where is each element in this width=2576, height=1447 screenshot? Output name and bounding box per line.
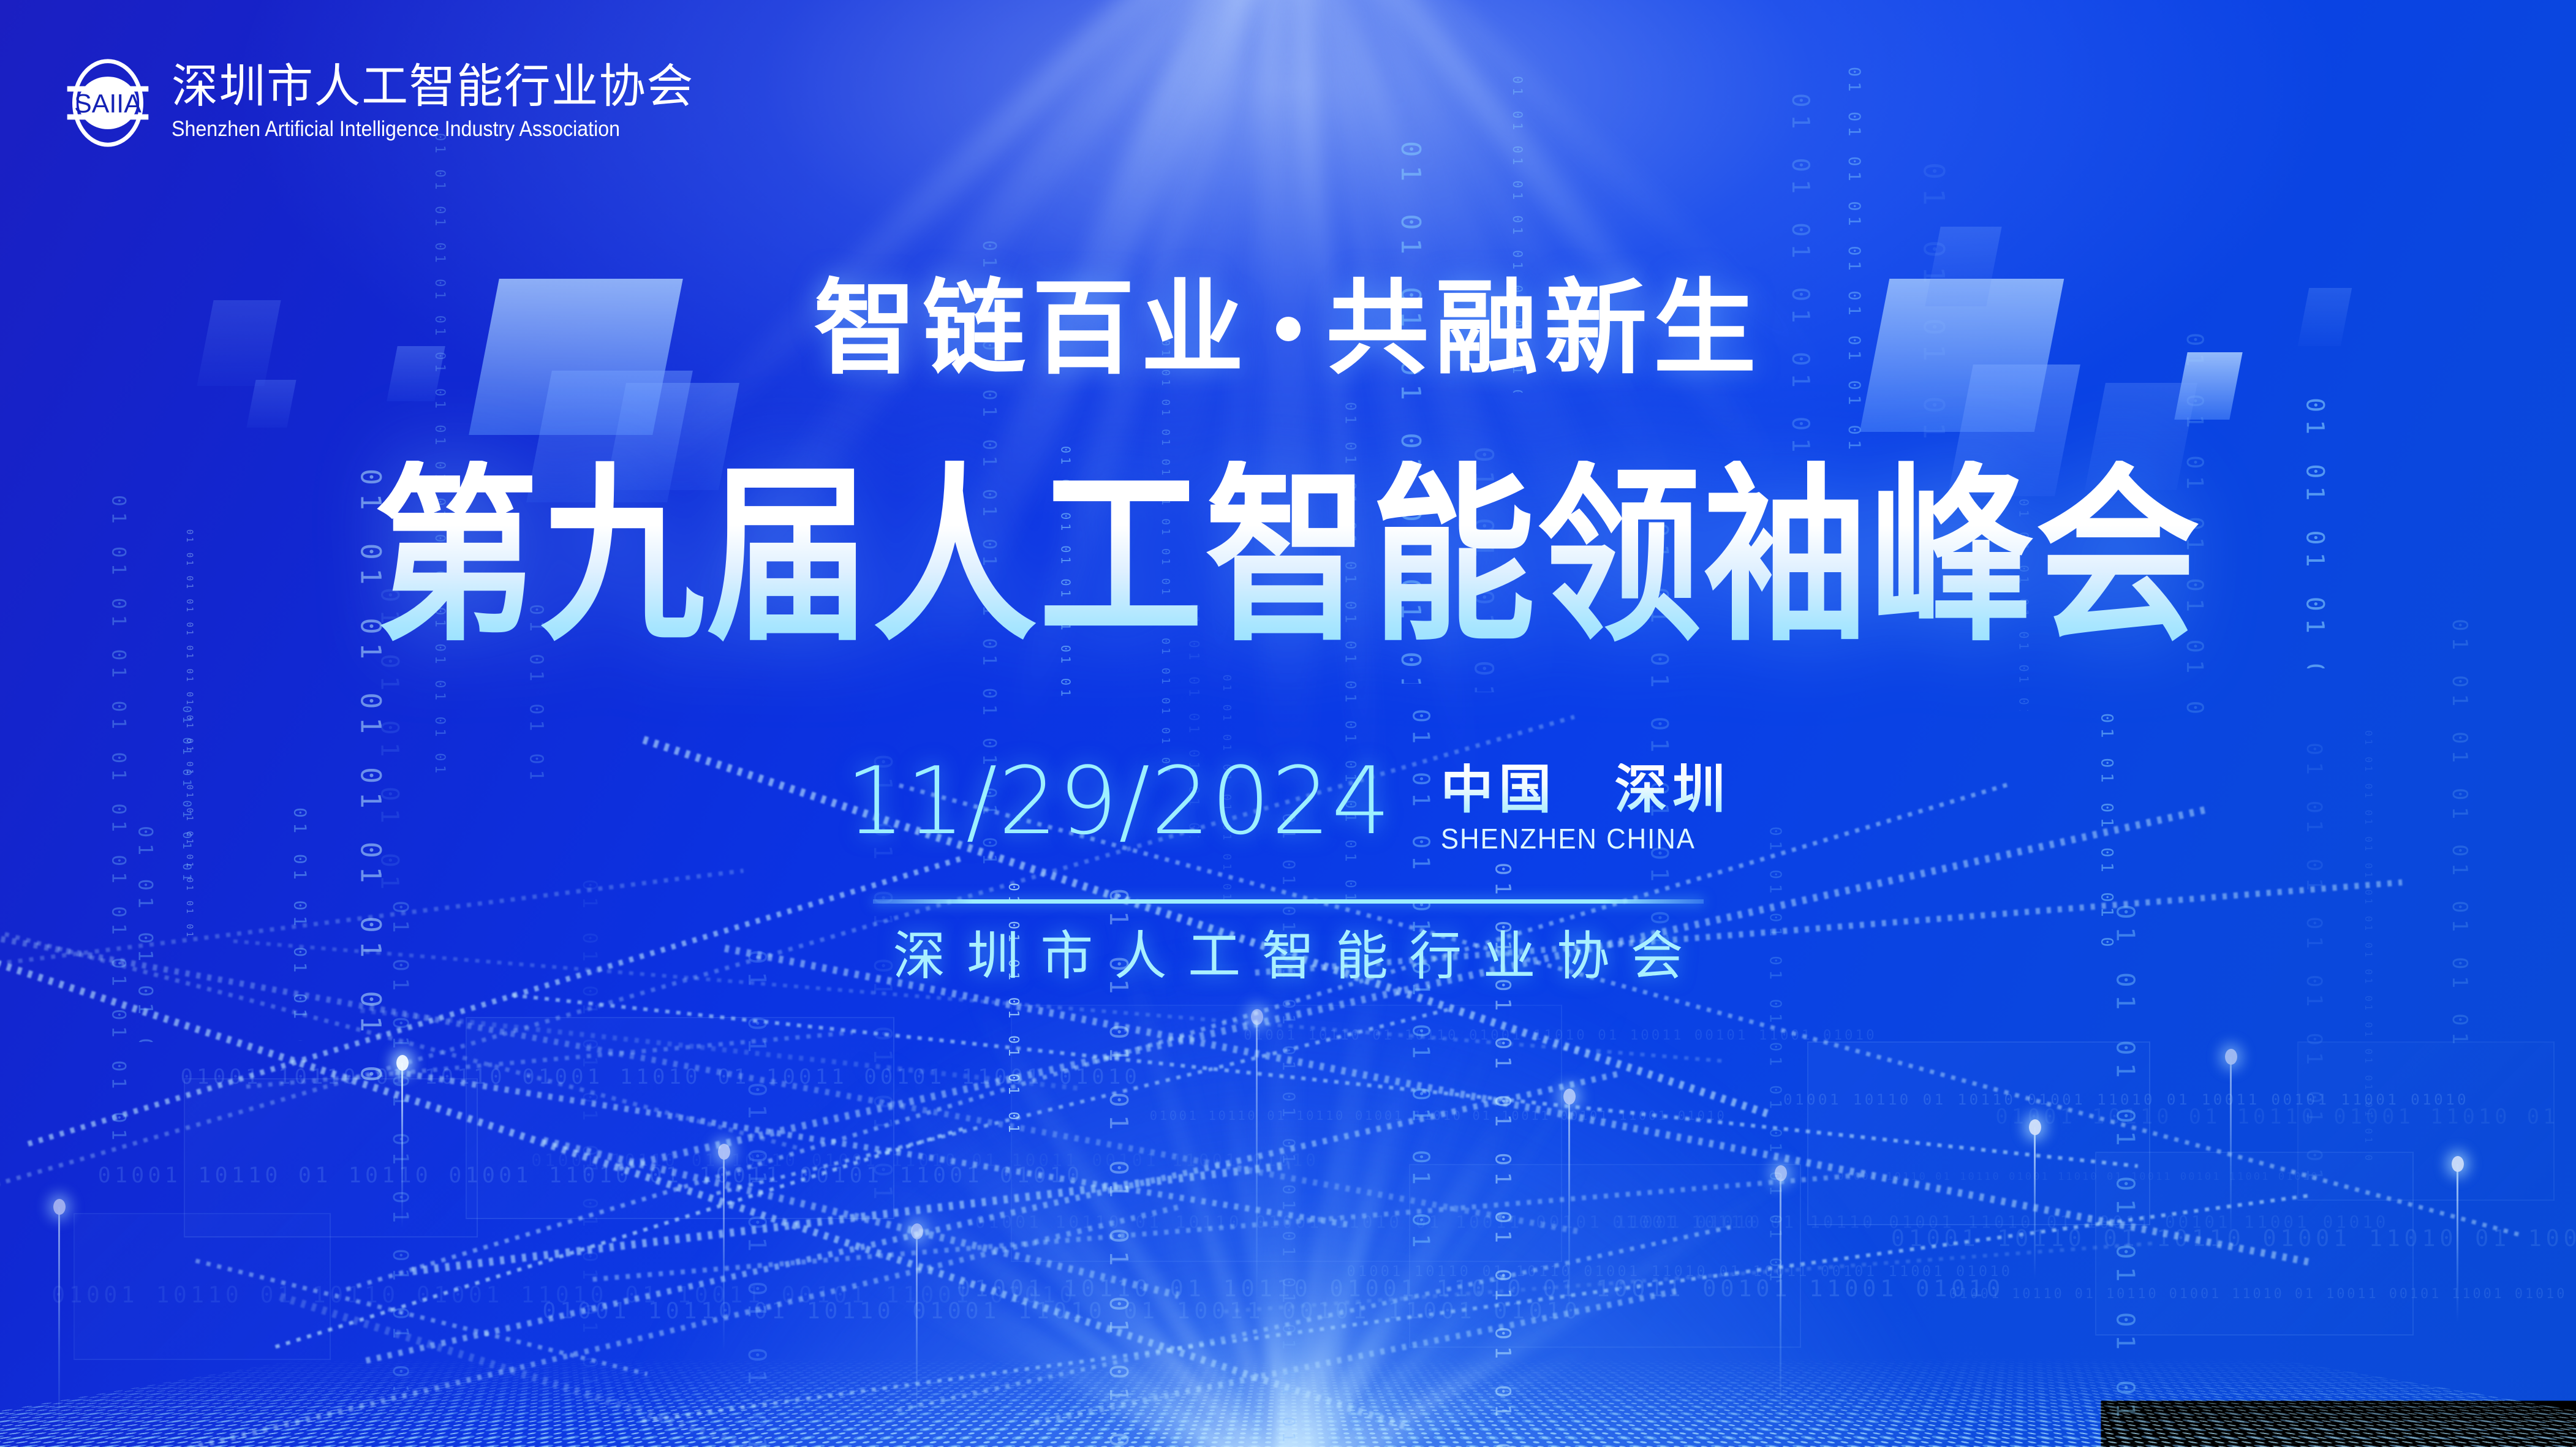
light-ray [1269, 0, 1603, 825]
decorative-block [246, 380, 296, 428]
circuit-panel [184, 1078, 478, 1237]
subtitle-separator-dot [1276, 317, 1301, 341]
emblem-label: SAIIA [74, 89, 142, 119]
hex-data-row: 01001 10110 01 10110 01001 11010 01 1001… [1949, 1286, 2567, 1302]
binary-stream: 01 01 01 01 01 01 01 01 01 01 01 01 01 0… [1845, 67, 1864, 455]
location-en: SHENZHEN CHINA [1441, 825, 1716, 853]
light-ray [1190, 0, 1300, 844]
light-pillar [2457, 1164, 2458, 1323]
saiia-emblem-icon: SAIIA [60, 55, 156, 151]
event-subtitle: 智链百业共融新生 [0, 277, 2576, 380]
circuit-panel [74, 1213, 331, 1360]
logo-name-cn: 深圳市人工智能行业协会 [172, 63, 694, 111]
light-ray [1263, 0, 1724, 790]
binary-stream: 01 01 01 01 01 01 01 01 01 01 01 01 01 0… [290, 807, 311, 1041]
light-ray [855, 0, 1310, 787]
event-organizer: 深圳市人工智能行业协会 [0, 930, 2576, 983]
event-meta: 11/29/2024 中国 深圳 SHENZHEN CHINA [845, 755, 1730, 853]
binary-stream: 01 01 01 01 01 01 01 01 01 01 01 01 01 0… [180, 706, 194, 887]
circuit-panel [2297, 1041, 2555, 1201]
association-logo: SAIIA 深圳市人工智能行业协会 Shenzhen Artificial In… [60, 55, 694, 151]
meta-divider [873, 899, 1704, 904]
subtitle-right: 共融新生 [1326, 271, 1762, 386]
circuit-panel [2095, 1152, 2414, 1336]
binary-stream: 01 01 01 01 01 01 01 01 01 01 01 01 01 0… [2447, 619, 2472, 1069]
conference-poster: 01001 10110 01 10110 01001 11010 01 1001… [0, 0, 2576, 1447]
light-pillar [401, 1063, 403, 1228]
event-date: 11/29/2024 [845, 755, 1391, 848]
logo-text-block: 深圳市人工智能行业协会 Shenzhen Artificial Intellig… [172, 63, 694, 142]
event-title: 第九届人工智能领袖峰会 [0, 461, 2576, 651]
light-pillar [2034, 1127, 2036, 1280]
light-ray [1279, 0, 1929, 473]
location-cn: 中国 深圳 [1441, 763, 1731, 816]
logo-name-en: Shenzhen Artificial Intelligence Industr… [172, 116, 652, 143]
binary-stream: 01 01 01 01 01 01 01 01 01 01 01 01 01 0… [2097, 713, 2116, 947]
event-location: 中国 深圳 SHENZHEN CHINA [1441, 755, 1731, 853]
subtitle-left: 智链百业 [814, 271, 1250, 386]
light-ray [897, 0, 1313, 478]
light-ray [961, 0, 1304, 878]
hex-data-row: 01001 10110 01 10110 01001 11010 01 1001… [1995, 1105, 2576, 1128]
light-pillar [2230, 1057, 2232, 1241]
